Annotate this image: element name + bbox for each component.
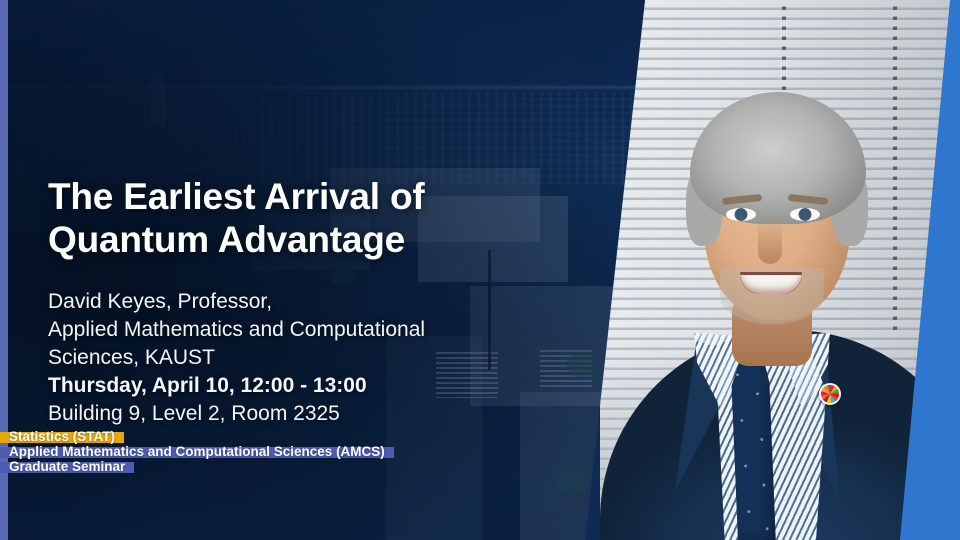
hair (690, 92, 866, 224)
affiliation-line-1: Applied Mathematics and Computational (48, 318, 425, 341)
tag-statistics[interactable]: Statistics (STAT) (0, 432, 124, 443)
event-location: Building 9, Level 2, Room 2325 (48, 402, 340, 425)
event-announcement-slide: The Earliest Arrival of Quantum Advantag… (0, 0, 960, 540)
event-copy: The Earliest Arrival of Quantum Advantag… (48, 176, 578, 427)
speaker-name: David Keyes, Professor, (48, 290, 272, 313)
affiliation-line-2: Sciences, KAUST (48, 346, 215, 369)
tag-graduate-seminar[interactable]: Graduate Seminar (0, 462, 134, 473)
page-title: The Earliest Arrival of Quantum Advantag… (48, 176, 578, 262)
eye-left (726, 208, 756, 221)
sdg-lapel-pin-icon (819, 383, 841, 405)
tag-row: Graduate Seminar (0, 462, 394, 477)
event-details: David Keyes, Professor, Applied Mathemat… (48, 288, 578, 428)
tag-list: Statistics (STAT) Applied Mathematics an… (0, 432, 394, 477)
nose (758, 218, 782, 264)
eye-right (790, 208, 820, 221)
tag-amcs[interactable]: Applied Mathematics and Computational Sc… (0, 447, 394, 458)
event-datetime: Thursday, April 10, 12:00 - 13:00 (48, 374, 367, 397)
